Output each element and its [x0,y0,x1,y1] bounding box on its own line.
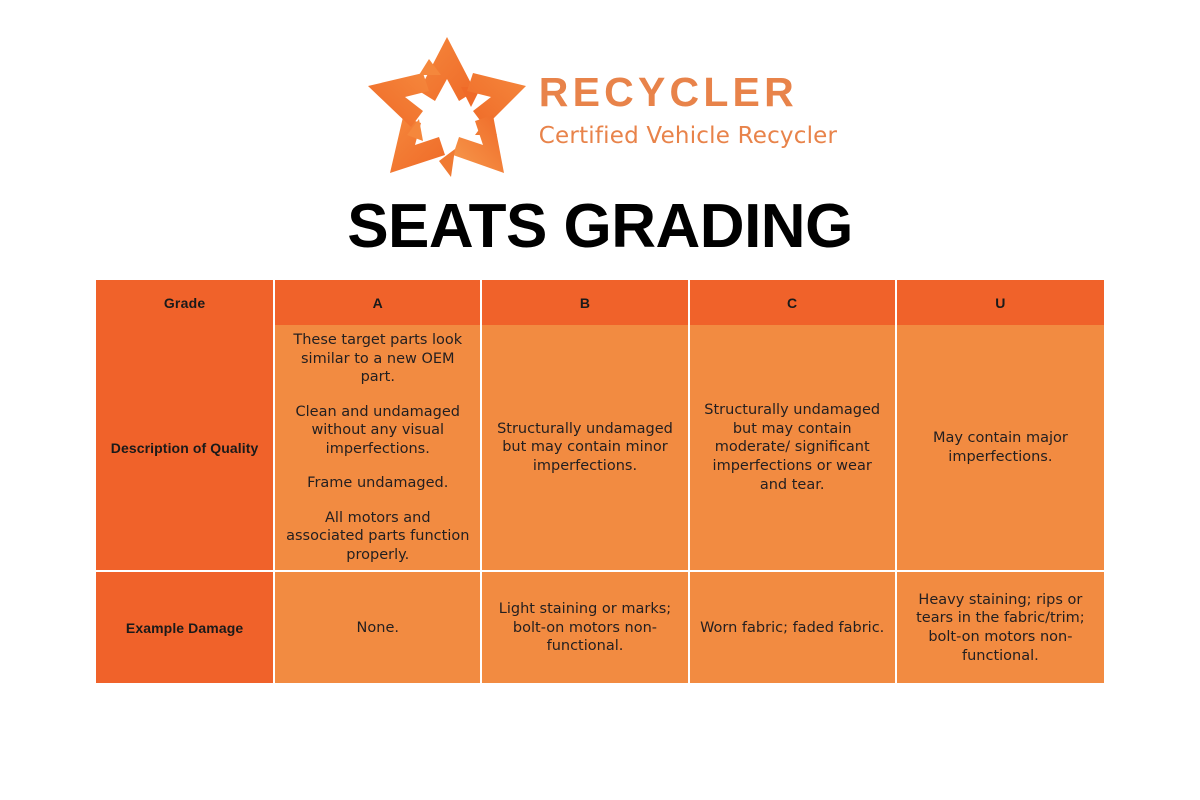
cell-description-a: These target parts look similar to a new… [275,325,482,572]
cell-description-c: Structurally undamaged but may contain m… [690,325,897,572]
column-header-b: B [482,280,689,325]
logo-inner: RECYCLER Certified Vehicle Recycler [363,31,837,181]
column-header-grade: Grade [96,280,275,325]
cell-example-c: Worn fabric; faded fabric. [690,572,897,683]
logo-wordmark: RECYCLER [539,72,837,113]
table-row: Example Damage None. Light staining or m… [96,572,1104,683]
page-title: SEATS GRADING [0,196,1200,258]
row-label-description-of-quality: Description of Quality [96,325,275,572]
cell-description-b: Structurally undamaged but may contain m… [482,325,689,572]
logo-text: RECYCLER Certified Vehicle Recycler [539,64,837,148]
column-header-c: C [690,280,897,325]
brand-logo: RECYCLER Certified Vehicle Recycler [0,28,1200,183]
seats-grading-table: Grade A B C U Description of Quality The… [96,280,1104,683]
recycling-star-icon [363,31,531,181]
logo-tagline: Certified Vehicle Recycler [539,125,837,148]
cell-example-b: Light staining or marks; bolt-on motors … [482,572,689,683]
header-row: Grade A B C U [96,280,1104,325]
cell-description-u: May contain major imperfections. [897,325,1104,572]
table-row: Description of Quality These target part… [96,325,1104,572]
column-header-a: A [275,280,482,325]
table-header: Grade A B C U [96,280,1104,325]
cell-example-u: Heavy staining; rips or tears in the fab… [897,572,1104,683]
cell-example-a: None. [275,572,482,683]
table-body: Description of Quality These target part… [96,325,1104,683]
column-header-u: U [897,280,1104,325]
row-label-example-damage: Example Damage [96,572,275,683]
page-root: RECYCLER Certified Vehicle Recycler SEAT… [0,0,1200,800]
